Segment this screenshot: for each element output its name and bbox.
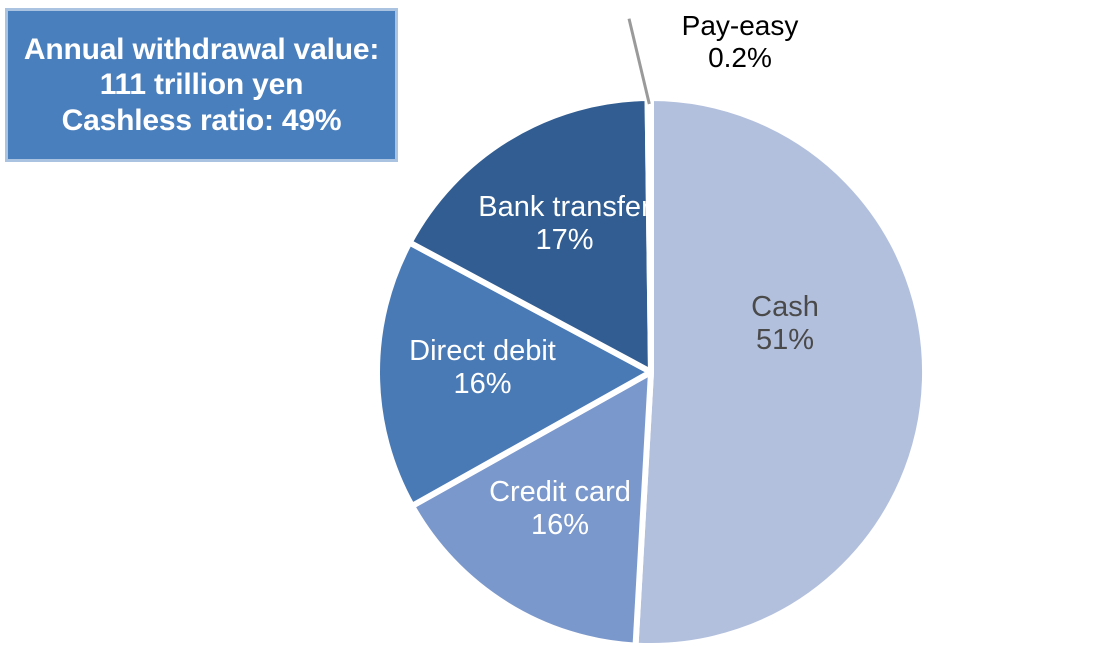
pie-chart-svg [0,0,1120,668]
pie-leader-line-pay-easy [629,19,649,104]
pie-slice-cash[interactable] [636,98,926,646]
pie-slice-group [377,98,925,646]
pie-leader-line-group [629,19,649,104]
pie-slice-pay-easy[interactable] [648,98,651,372]
chart-canvas: Annual withdrawal value: 111 trillion ye… [0,0,1120,668]
pie-chart: Cash 51% Credit card 16% Direct debit 16… [0,0,1120,668]
